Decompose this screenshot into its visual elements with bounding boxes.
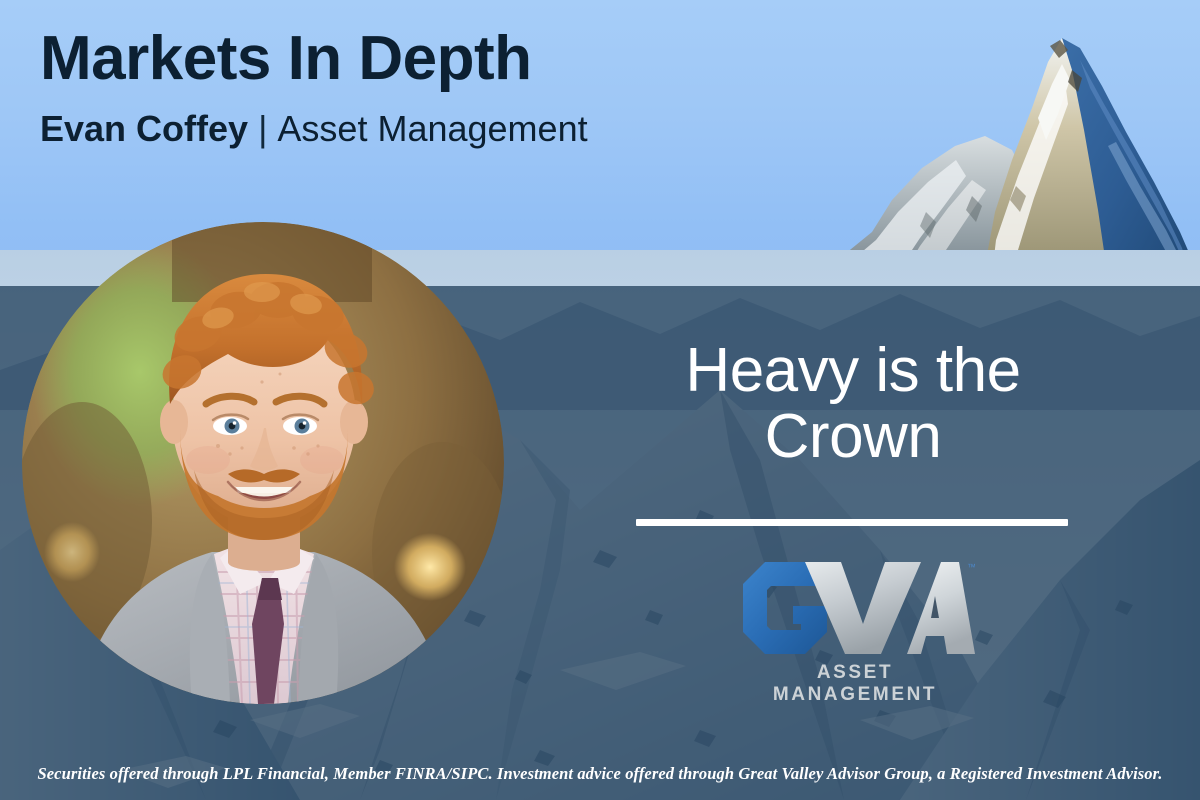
header-block: Markets In Depth Evan Coffey|Asset Manag… <box>40 26 780 149</box>
headline-divider <box>636 519 1068 526</box>
feature-headline: Heavy is the Crown <box>636 338 1070 471</box>
byline: Evan Coffey|Asset Management <box>40 109 780 149</box>
footer-disclaimer: Securities offered through LPL Financial… <box>0 764 1200 784</box>
page-title: Markets In Depth <box>40 26 780 91</box>
avatar <box>22 222 504 704</box>
trademark-icon: ™ <box>967 562 975 572</box>
mountain-peak-illustration <box>780 0 1200 292</box>
headline-line-2: Crown <box>636 404 1070 470</box>
portrait-illustration <box>22 222 504 704</box>
markets-in-depth-banner: Markets In Depth Evan Coffey|Asset Manag… <box>0 0 1200 800</box>
gva-logo-mark: ™ <box>735 556 975 660</box>
author-name: Evan Coffey <box>40 108 248 149</box>
headline-line-1: Heavy is the <box>636 338 1070 404</box>
gva-logo: ™ ASSET MANAGEMENT <box>735 556 975 696</box>
logo-tagline: ASSET MANAGEMENT <box>735 662 975 706</box>
byline-separator: | <box>248 108 277 149</box>
department-label: Asset Management <box>277 108 587 149</box>
